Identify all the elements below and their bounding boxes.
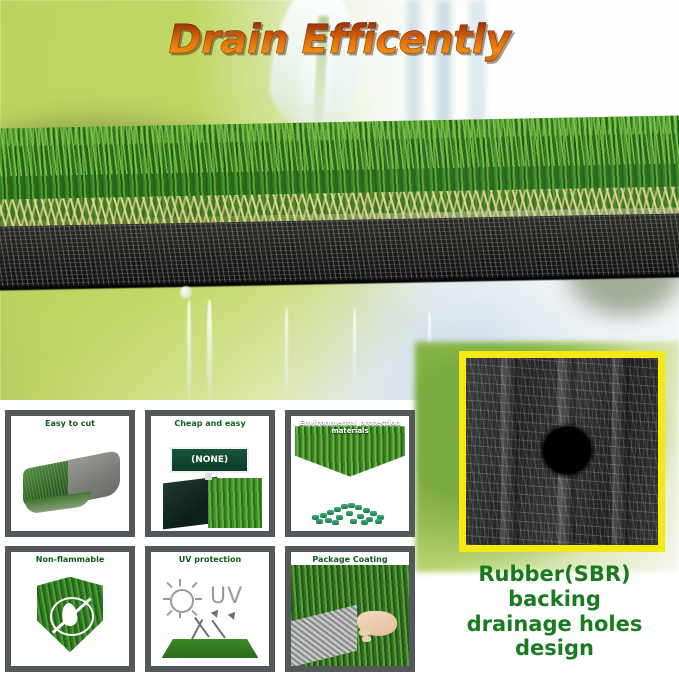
finger: [362, 636, 371, 642]
uv-label: UV: [210, 584, 243, 609]
feature-panel-label: Cheap and easy: [151, 419, 269, 428]
feature-panel-non-flammable[interactable]: Non-flammable: [5, 546, 135, 673]
arrow-head-2: [228, 609, 239, 619]
non-flammable-art: [11, 552, 129, 667]
package-coating-art: [291, 552, 409, 667]
water-stream-3: [285, 308, 288, 397]
sun-ray: [179, 611, 181, 618]
inset-caption: Rubber(SBR) backing drainage holes desig…: [430, 562, 679, 661]
water-stream-1: [187, 300, 191, 405]
sun-ray: [195, 598, 202, 600]
uv-protection-art: UV: [151, 552, 269, 667]
resin-pellet-pile: [305, 492, 395, 524]
cheap-and-easy-art: (NONE): [151, 416, 269, 531]
sun-ray: [179, 579, 181, 586]
sun-ray: [167, 610, 173, 616]
no-fire-prohibition-icon: [50, 597, 94, 635]
sun-ray: [191, 581, 197, 587]
feature-panel-label: Non-flammable: [11, 555, 129, 564]
rubber-backing-layer: [0, 213, 679, 288]
sun-ray: [191, 610, 197, 616]
feature-panel-cheap-and-easy[interactable]: (NONE) Cheap and easy: [145, 410, 275, 537]
reflected-arrow-2: [211, 619, 226, 638]
rubber-backing-inset-photo: [459, 351, 665, 552]
feature-panel-label: UV protection: [151, 555, 269, 564]
water-stream-2: [207, 300, 212, 401]
rubber-ridge: [501, 358, 518, 545]
feature-panel-uv-protection[interactable]: UV UV protection: [145, 546, 275, 673]
feature-panel-environmental[interactable]: Environmental protection materials: [285, 410, 415, 537]
rubber-ridge: [612, 358, 629, 545]
finger: [359, 629, 370, 636]
page-title: Drain Efficently: [0, 17, 679, 63]
price-sign: (NONE): [170, 447, 250, 473]
grass-cross-section: [0, 115, 679, 282]
sun-ray: [163, 598, 170, 600]
feature-panel-label: Package Coating: [291, 555, 409, 564]
feature-grid: Easy to cut (NONE) Cheap and easy: [5, 410, 415, 672]
sun-ray: [167, 581, 173, 587]
feature-panel-label: Environmental protection materials: [291, 419, 409, 435]
product-feature-image: Drain Efficently Easy to cut: [0, 0, 679, 679]
feature-panel-easy-to-cut[interactable]: Easy to cut: [5, 410, 135, 537]
arrow-head-1: [211, 607, 222, 617]
sun-icon: [170, 589, 194, 612]
feature-section: Easy to cut (NONE) Cheap and easy: [0, 400, 679, 679]
feature-panel-label: Easy to cut: [11, 419, 129, 428]
grass-block: [208, 478, 262, 528]
caption-line-2: drainage holes design: [430, 612, 679, 662]
easy-to-cut-art: [11, 416, 129, 531]
caption-line-1: Rubber(SBR) backing: [430, 562, 679, 612]
water-stream-4: [353, 308, 356, 393]
feature-panel-package-coating[interactable]: Package Coating: [285, 546, 415, 673]
water-drop: [180, 286, 192, 299]
turf-mat: [162, 639, 259, 658]
drainage-hole: [543, 427, 591, 474]
price-sign-text: (NONE): [191, 455, 228, 465]
